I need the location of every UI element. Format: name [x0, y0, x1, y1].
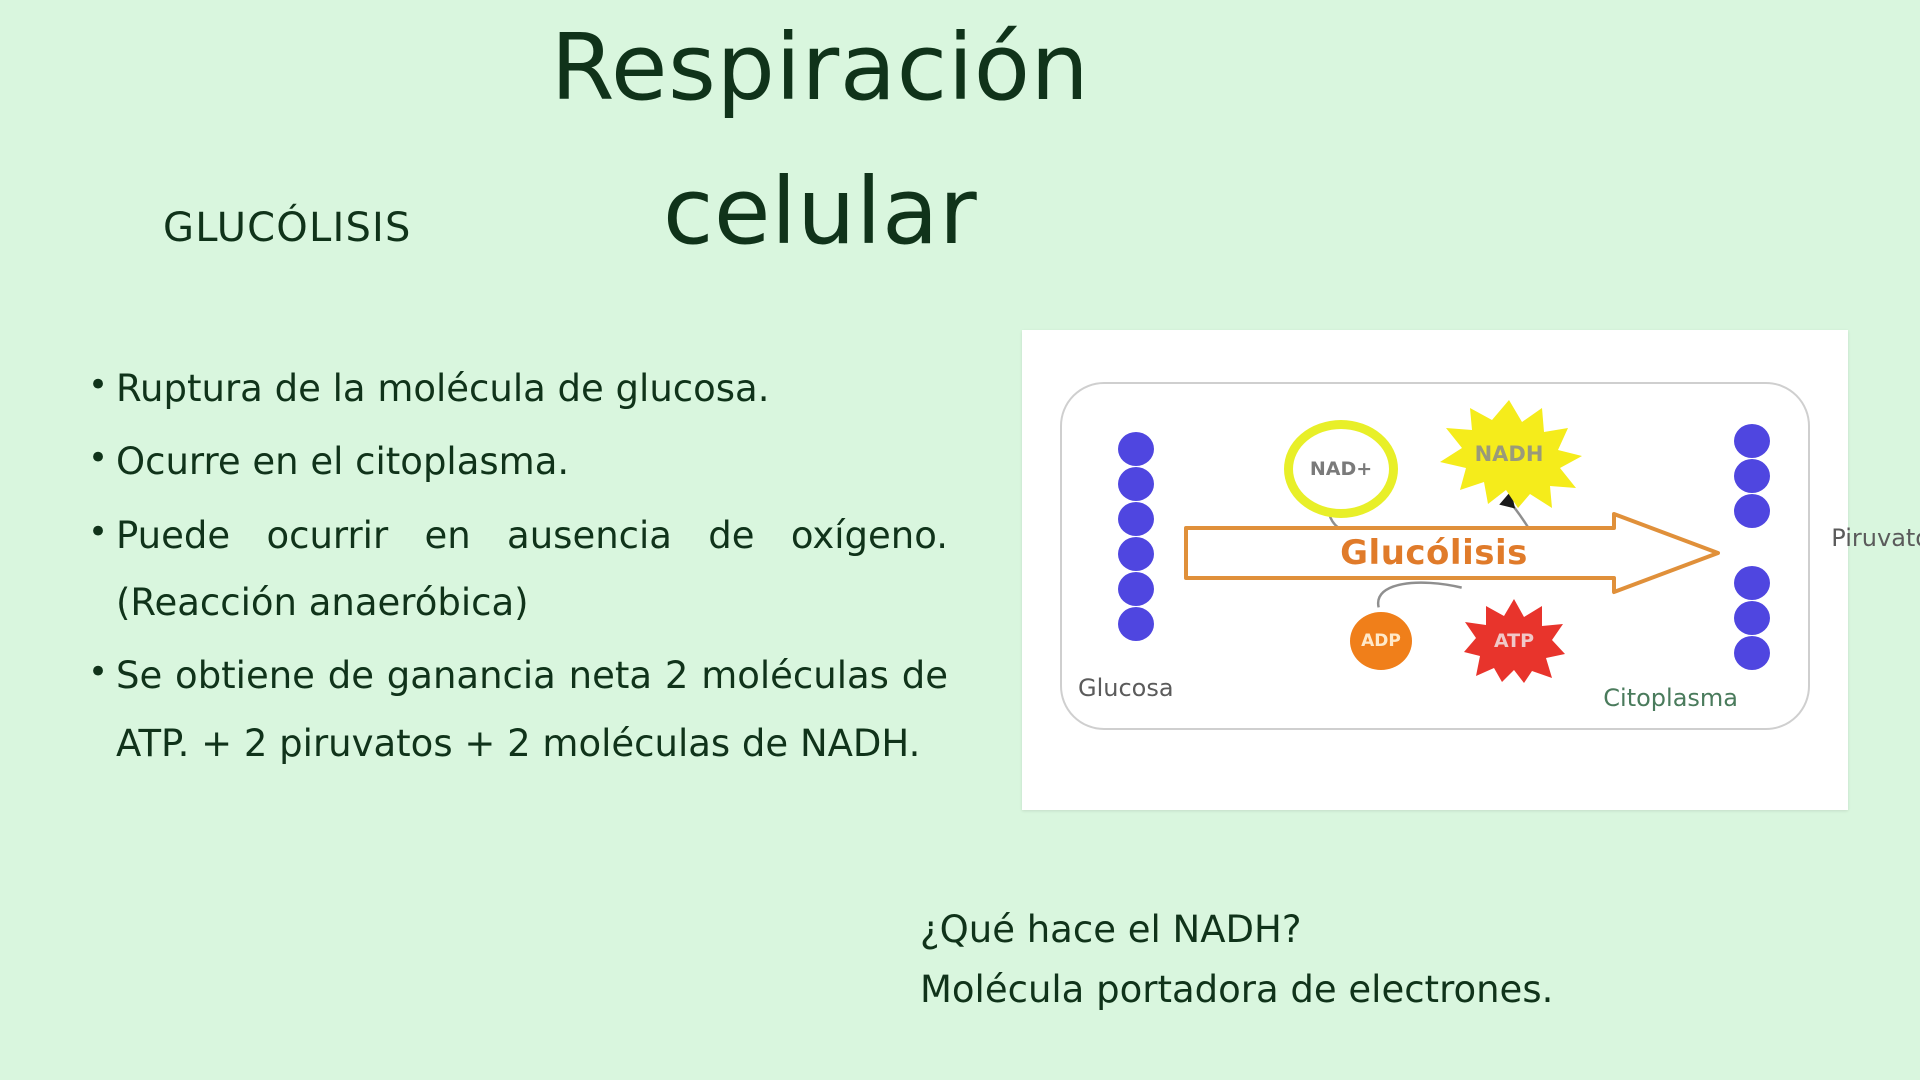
nad-plus-node: NAD+	[1284, 420, 1398, 518]
glucose-molecule-beads	[1118, 432, 1154, 641]
cytoplasm-boundary: Glucólisis NAD+ NADH ADP	[1060, 382, 1810, 730]
list-item: • Puede ocurrir en ausencia de oxígeno. …	[88, 502, 948, 637]
bead-icon	[1734, 494, 1770, 528]
bead-icon	[1118, 537, 1154, 571]
atp-label: ATP	[1462, 598, 1566, 684]
bullet-marker-icon: •	[88, 355, 116, 417]
bullet-text: Ruptura de la molécula de glucosa.	[116, 355, 948, 422]
bead-icon	[1734, 601, 1770, 635]
bead-icon	[1734, 566, 1770, 600]
list-item: • Ocurre en el citoplasma.	[88, 428, 948, 495]
pyruvate-molecule-beads-bottom	[1734, 566, 1770, 670]
page-title: Respiración celular	[540, 22, 1100, 258]
bead-icon	[1118, 572, 1154, 606]
section-heading-glucolisis: GLUCÓLISIS	[163, 205, 412, 251]
glycolysis-diagram-image: Glucólisis NAD+ NADH ADP	[1022, 330, 1848, 810]
bullet-text: Ocurre en el citoplasma.	[116, 428, 948, 495]
citoplasma-label: Citoplasma	[1603, 684, 1738, 712]
atp-node: ATP	[1462, 598, 1566, 684]
bead-icon	[1118, 432, 1154, 466]
bead-icon	[1118, 607, 1154, 641]
footer-question: ¿Qué hace el NADH?	[920, 900, 1553, 960]
piruvato-label: Piruvato	[1831, 524, 1920, 552]
bullet-marker-icon: •	[88, 642, 116, 704]
list-item: • Se obtiene de ganancia neta 2 molécula…	[88, 642, 948, 777]
footer-answer: Molécula portadora de electrones.	[920, 960, 1553, 1020]
adp-label: ADP	[1361, 631, 1401, 651]
bead-icon	[1118, 467, 1154, 501]
glycolysis-arrow: Glucólisis	[1182, 510, 1722, 596]
title-line-1: Respiración	[540, 22, 1100, 114]
slide-canvas: Respiración celular GLUCÓLISIS • Ruptura…	[0, 0, 1920, 1080]
pyruvate-molecule-beads-top	[1734, 424, 1770, 528]
list-item: • Ruptura de la molécula de glucosa.	[88, 355, 948, 422]
nad-label: NAD+	[1310, 458, 1372, 480]
arrow-label: Glucólisis	[1182, 510, 1722, 596]
title-line-2: celular	[540, 166, 1100, 258]
bead-icon	[1734, 424, 1770, 458]
bullet-marker-icon: •	[88, 428, 116, 490]
bullet-text: Puede ocurrir en ausencia de oxígeno. (R…	[116, 502, 948, 637]
bullet-list: • Ruptura de la molécula de glucosa. • O…	[88, 355, 948, 783]
glucosa-label: Glucosa	[1078, 674, 1174, 702]
nadh-node: NADH	[1434, 398, 1584, 510]
bead-icon	[1734, 459, 1770, 493]
bullet-text: Se obtiene de ganancia neta 2 moléculas …	[116, 642, 948, 777]
footer-question-block: ¿Qué hace el NADH? Molécula portadora de…	[920, 900, 1553, 1020]
bead-icon	[1118, 502, 1154, 536]
bead-icon	[1734, 636, 1770, 670]
bullet-marker-icon: •	[88, 502, 116, 564]
nadh-label: NADH	[1434, 398, 1584, 510]
adp-node: ADP	[1350, 612, 1412, 670]
